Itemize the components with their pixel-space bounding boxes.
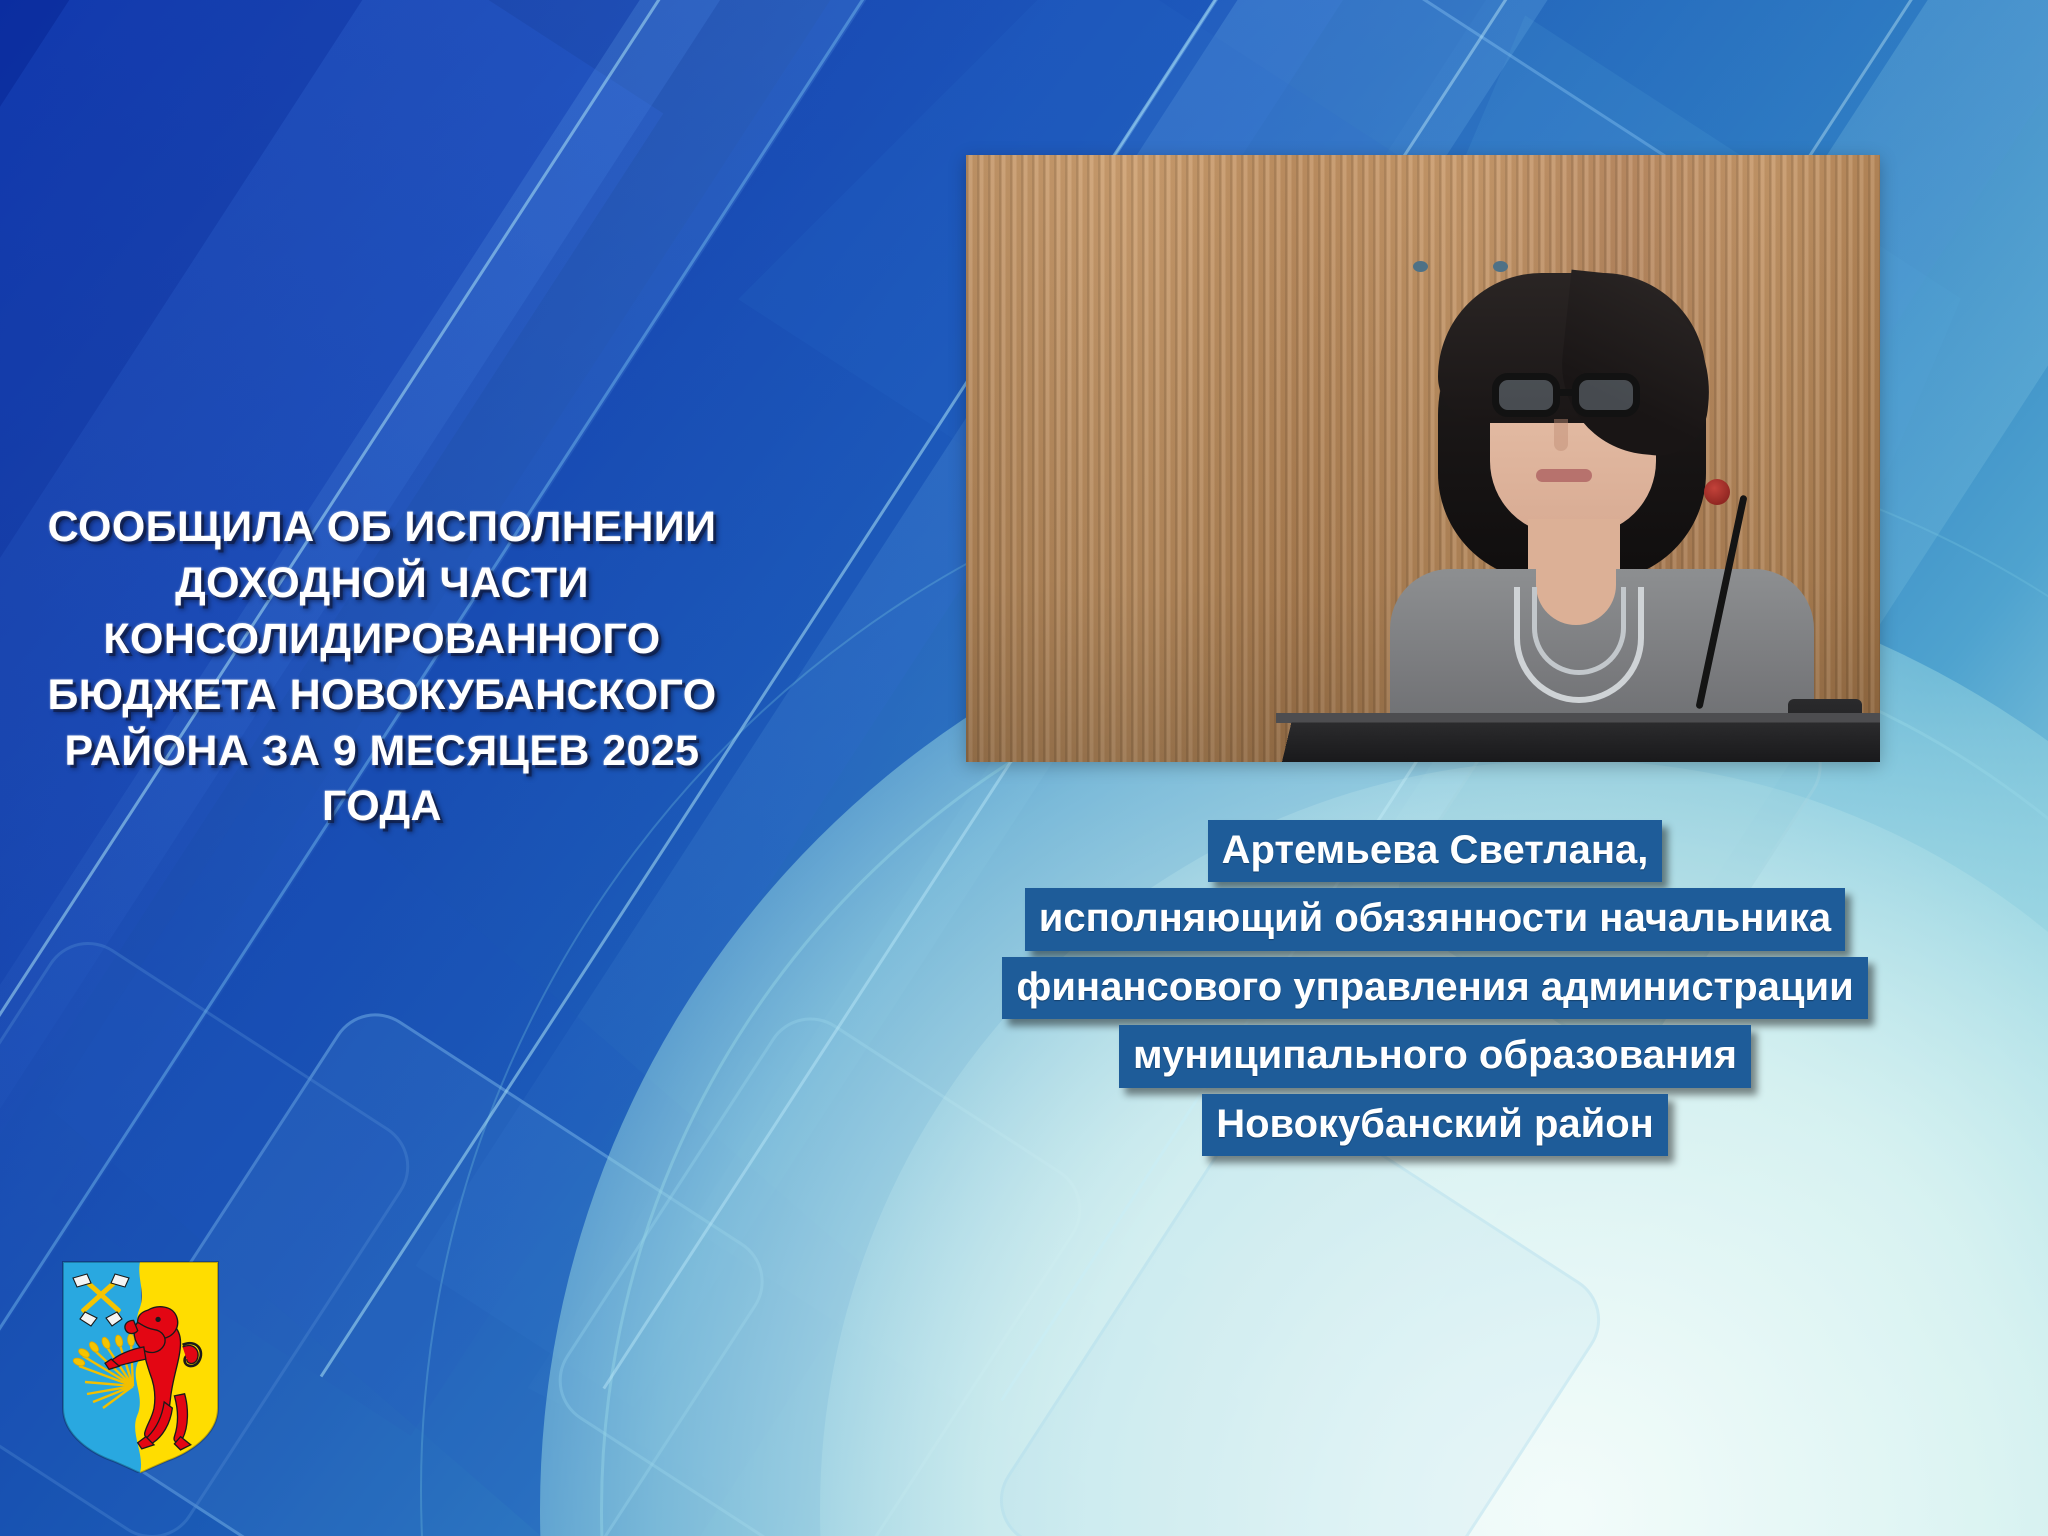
microphone-icon xyxy=(1704,479,1730,505)
speaker-figure xyxy=(1386,247,1816,762)
podium-top-edge xyxy=(1276,713,1880,723)
shield-svg xyxy=(57,1258,224,1473)
slide-title: СООБЩИЛА ОБ ИСПОЛНЕНИИ ДОХОДНОЙ ЧАСТИ КО… xyxy=(12,500,752,835)
caption-line-name: Артемьева Светлана, xyxy=(1208,820,1663,882)
caption-line-district: Новокубанский район xyxy=(1202,1094,1668,1156)
lens-left xyxy=(1492,373,1560,417)
podium-front xyxy=(1259,723,1880,762)
caption-line-position: исполняющий обязянности начальника xyxy=(1025,888,1845,950)
eye-right xyxy=(1493,261,1508,272)
caption-line-municipality: муниципального образования xyxy=(1119,1025,1751,1087)
lens-right xyxy=(1572,373,1640,417)
coat-of-arms-emblem xyxy=(57,1258,224,1473)
mouth xyxy=(1536,469,1592,482)
glasses-bridge xyxy=(1558,389,1576,396)
eye-left xyxy=(1413,261,1428,272)
slide-canvas: СООБЩИЛА ОБ ИСПОЛНЕНИИ ДОХОДНОЙ ЧАСТИ КО… xyxy=(0,0,2048,1536)
speaker-caption: Артемьева Светлана, исполняющий обязянно… xyxy=(830,820,2040,1156)
caption-line-department: финансового управления администрации xyxy=(1002,957,1867,1019)
glasses-icon xyxy=(1492,373,1658,417)
speaker-photo xyxy=(966,155,1880,762)
nose xyxy=(1554,419,1568,451)
